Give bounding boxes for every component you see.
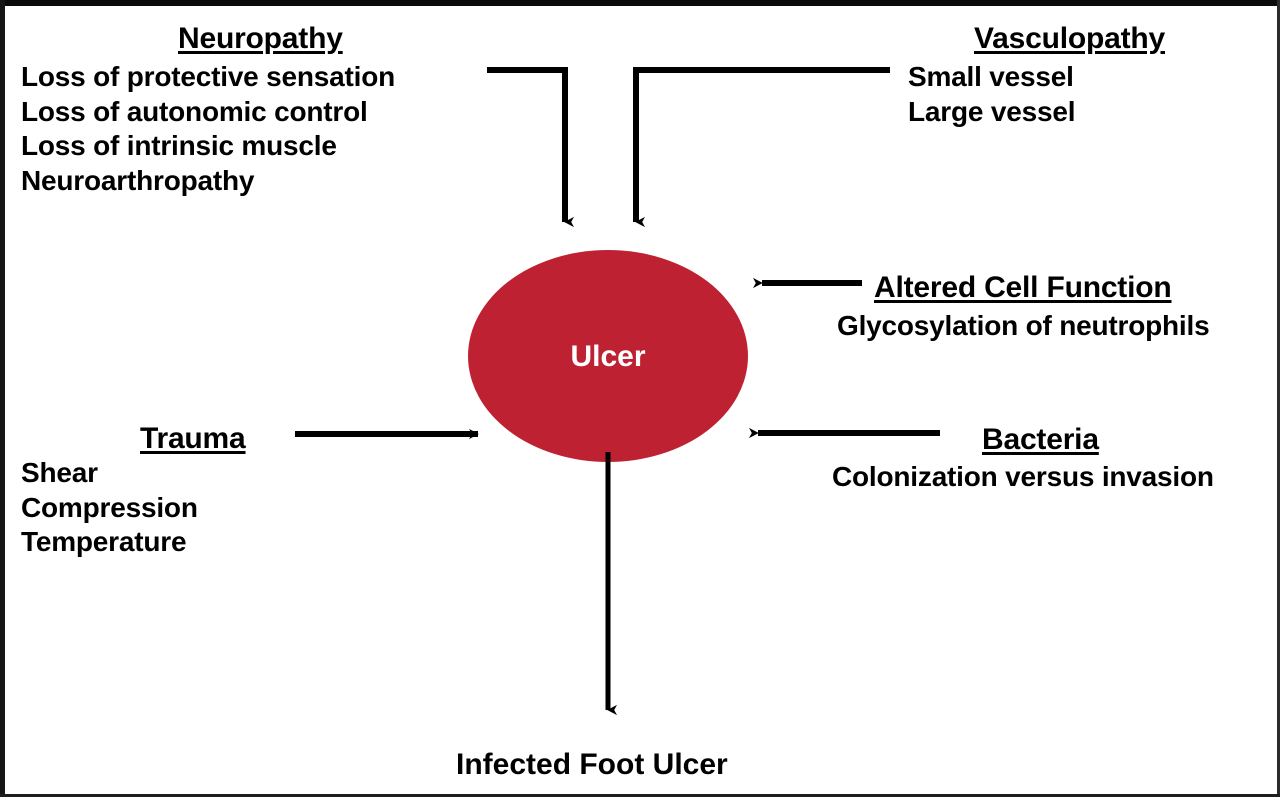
vasculopathy-item-list: Small vessel Large vessel — [908, 60, 1075, 129]
trauma-heading: Trauma — [140, 422, 246, 456]
neuropathy-item-list: Loss of protective sensation Loss of aut… — [21, 60, 395, 198]
bacteria-heading: Bacteria — [982, 423, 1099, 457]
bacteria-item: Colonization versus invasion — [832, 460, 1214, 495]
neuropathy-item: Loss of intrinsic muscle — [21, 129, 395, 164]
trauma-item-list: Shear Compression Temperature — [21, 456, 198, 560]
neuropathy-item: Neuroarthropathy — [21, 164, 395, 199]
trauma-item: Compression — [21, 491, 198, 526]
vasculopathy-item: Large vessel — [908, 95, 1075, 130]
infected-foot-ulcer-label: Infected Foot Ulcer — [456, 748, 728, 782]
altered-cell-function-heading: Altered Cell Function — [874, 271, 1172, 305]
connector-vasculopathy — [636, 70, 890, 222]
vasculopathy-heading: Vasculopathy — [974, 22, 1165, 56]
altered-cell-function-item: Glycosylation of neutrophils — [837, 309, 1209, 344]
neuropathy-item: Loss of protective sensation — [21, 60, 395, 95]
ulcer-label: Ulcer — [468, 340, 748, 374]
trauma-item: Temperature — [21, 525, 198, 560]
vasculopathy-item: Small vessel — [908, 60, 1075, 95]
neuropathy-item: Loss of autonomic control — [21, 95, 395, 130]
connector-neuropathy — [487, 70, 565, 222]
trauma-item: Shear — [21, 456, 198, 491]
altered-cell-function-item-list: Glycosylation of neutrophils — [837, 309, 1209, 344]
diagram-canvas: Neuropathy Loss of protective sensation … — [0, 0, 1280, 797]
bacteria-item-list: Colonization versus invasion — [832, 460, 1214, 495]
neuropathy-heading: Neuropathy — [178, 22, 343, 56]
